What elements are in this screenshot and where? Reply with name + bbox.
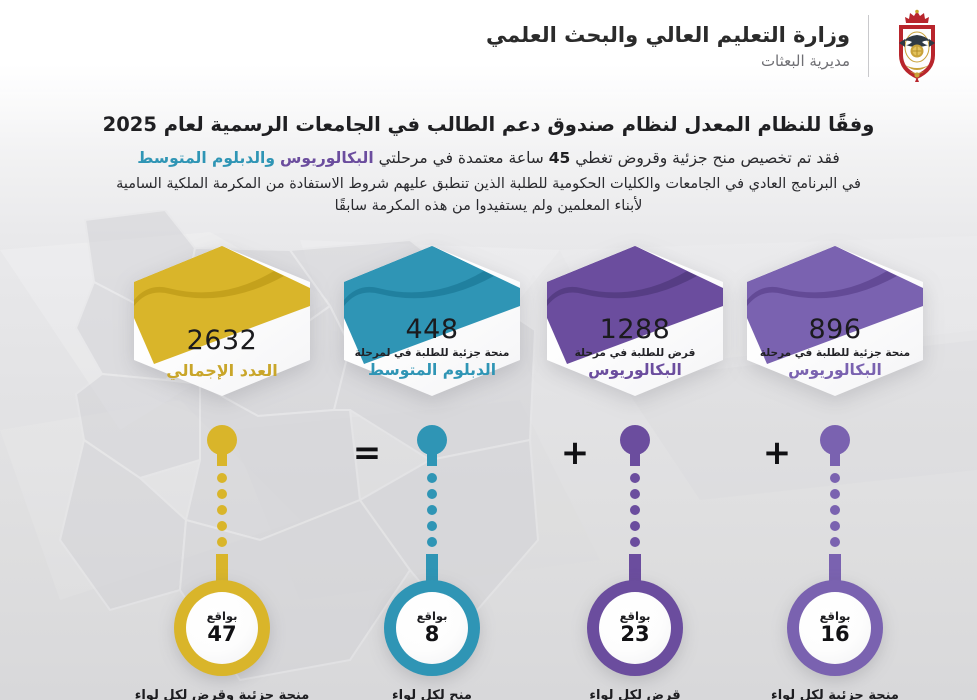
page-title: وفقًا للنظام المعدل لنظام صندوق دعم الطا… — [40, 112, 937, 138]
hex-content-bachelor-grant: 896 منحة جزئية للطلبة في مرحلة البكالوري… — [747, 316, 923, 380]
caption-total: منحة جزئية وقرض لكل لواء — [122, 688, 322, 700]
ministry-name: وزارة التعليم العالي والبحث العلمي — [486, 22, 850, 48]
connector-bachelor-grant — [805, 424, 865, 584]
hex-number-diploma-grant: 448 — [354, 316, 510, 344]
hex-desc-diploma-grant: منحة جزئية للطلبة في لمرحلة — [354, 347, 510, 360]
ring-inner: بواقع 16 — [799, 592, 871, 664]
ring-bachelor-loan[interactable]: بواقع 23 — [587, 580, 683, 676]
hex-content-diploma-grant: 448 منحة جزئية للطلبة في لمرحلة الدبلوم … — [344, 316, 520, 380]
hex-number-total: 2632 — [144, 327, 300, 355]
ring-diploma-grant[interactable]: بواقع 8 — [384, 580, 480, 676]
caption-bachelor-grant: منحة جزئية لكل لواء — [735, 688, 935, 700]
hex-stage-bachelor: البكالوريوس — [557, 361, 713, 380]
subtitle-hours-number: 45 — [549, 149, 571, 167]
hex-card-total[interactable]: 2632 العدد الإجمالي — [134, 246, 310, 396]
hex-desc-bachelor-grant: منحة جزئية للطلبة في مرحلة — [757, 347, 913, 360]
hex-number-bachelor-loan: 1288 — [557, 316, 713, 344]
hex-number-bachelor-grant: 896 — [757, 316, 913, 344]
connector-total — [192, 424, 252, 584]
stat-column-bachelor-grant: 896 منحة جزئية للطلبة في مرحلة البكالوري… — [735, 246, 935, 700]
connector-diploma-grant — [402, 424, 462, 584]
ring-total[interactable]: بواقع 47 — [174, 580, 270, 676]
stat-column-diploma-grant: 448 منحة جزئية للطلبة في لمرحلة الدبلوم … — [332, 246, 532, 700]
hex-card-bachelor-loan[interactable]: 1288 قرض للطلبة في مرحلة البكالوريوس — [547, 246, 723, 396]
stats-columns: = + + 2632 العدد الإجمالي — [0, 246, 977, 700]
ring-inner: بواقع 23 — [599, 592, 671, 664]
hex-desc-bachelor-loan: قرض للطلبة في مرحلة — [557, 347, 713, 360]
ring-inner: بواقع 47 — [186, 592, 258, 664]
hex-card-diploma-grant[interactable]: 448 منحة جزئية للطلبة في لمرحلة الدبلوم … — [344, 246, 520, 396]
hex-stage-diploma: الدبلوم المتوسط — [354, 361, 510, 380]
subtitle-part-a: فقد تم تخصيص منح جزئية وقروض تغطي — [570, 149, 839, 167]
header-divider — [868, 15, 869, 77]
ring-value: 16 — [820, 624, 849, 645]
hex-card-bachelor-grant[interactable]: 896 منحة جزئية للطلبة في مرحلة البكالوري… — [747, 246, 923, 396]
subtitle-line-1: فقد تم تخصيص منح جزئية وقروض تغطي 45 ساع… — [40, 147, 937, 170]
ring-value: 8 — [425, 624, 440, 645]
subtitle-part-b: ساعة معتمدة في مرحلتي — [374, 149, 549, 167]
stat-column-bachelor-loan: 1288 قرض للطلبة في مرحلة البكالوريوس — [535, 246, 735, 700]
subtitle-line-3: لأبناء المعلمين ولم يستفيدوا من هذه المك… — [40, 195, 937, 217]
hex-content-bachelor-loan: 1288 قرض للطلبة في مرحلة البكالوريوس — [547, 316, 723, 380]
hex-total-label: العدد الإجمالي — [144, 361, 300, 380]
department-name: مديرية البعثات — [486, 52, 850, 71]
stat-column-total: 2632 العدد الإجمالي — [122, 246, 322, 700]
subtitle-accent-bachelor: البكالوريوس — [280, 149, 374, 167]
infographic-poster: وزارة التعليم العالي والبحث العلمي مديري… — [0, 0, 977, 700]
connector-bachelor-loan — [605, 424, 665, 584]
hex-stage-bachelor-2: البكالوريوس — [757, 361, 913, 380]
subtitle-accent-diploma: والدبلوم المتوسط — [137, 149, 275, 167]
ring-value: 23 — [620, 624, 649, 645]
header-text-block: وزارة التعليم العالي والبحث العلمي مديري… — [486, 22, 850, 71]
jordan-coat-of-arms-icon — [887, 9, 947, 83]
caption-bachelor-loan: قرض لكل لواء — [535, 688, 735, 700]
subtitle-line-2: في البرنامج العادي في الجامعات والكليات … — [40, 173, 937, 195]
hex-content-total: 2632 العدد الإجمالي — [134, 327, 310, 380]
ring-bachelor-grant[interactable]: بواقع 16 — [787, 580, 883, 676]
caption-diploma-grant: منح لكل لواء — [332, 688, 532, 700]
ring-value: 47 — [207, 624, 236, 645]
ring-inner: بواقع 8 — [396, 592, 468, 664]
title-block: وفقًا للنظام المعدل لنظام صندوق دعم الطا… — [0, 112, 977, 218]
page-header: وزارة التعليم العالي والبحث العلمي مديري… — [0, 0, 977, 92]
